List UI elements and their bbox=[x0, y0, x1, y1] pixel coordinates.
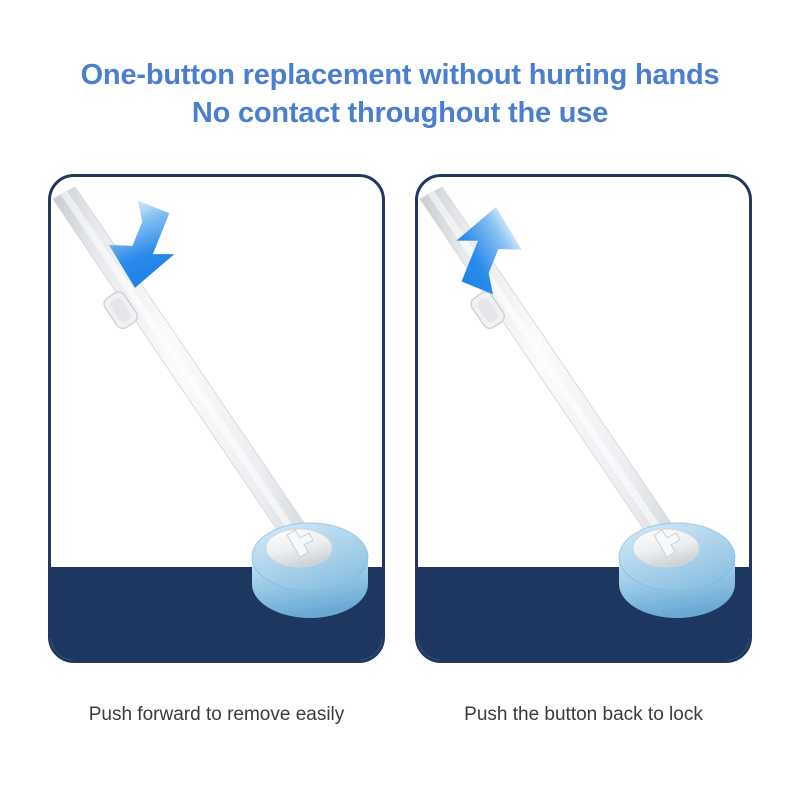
mop-pad-right bbox=[619, 523, 735, 618]
page-title: One-button replacement without hurting h… bbox=[0, 56, 800, 132]
caption-lock: Push the button back to lock bbox=[415, 702, 752, 728]
page-title-line-1: One-button replacement without hurting h… bbox=[0, 56, 800, 94]
mop-pad-left bbox=[252, 523, 368, 618]
panel-lock bbox=[415, 174, 752, 663]
illustration-panels bbox=[0, 174, 800, 664]
page-title-line-2: No contact throughout the use bbox=[0, 94, 800, 132]
caption-remove: Push forward to remove easily bbox=[48, 702, 385, 728]
mop-handle-left bbox=[53, 187, 319, 559]
panel-remove bbox=[48, 174, 385, 663]
panel-captions: Push forward to remove easily Push the b… bbox=[0, 702, 800, 742]
mop-handle-right bbox=[420, 187, 686, 559]
mop-illustration-right bbox=[418, 177, 749, 660]
mop-illustration-left bbox=[51, 177, 382, 660]
